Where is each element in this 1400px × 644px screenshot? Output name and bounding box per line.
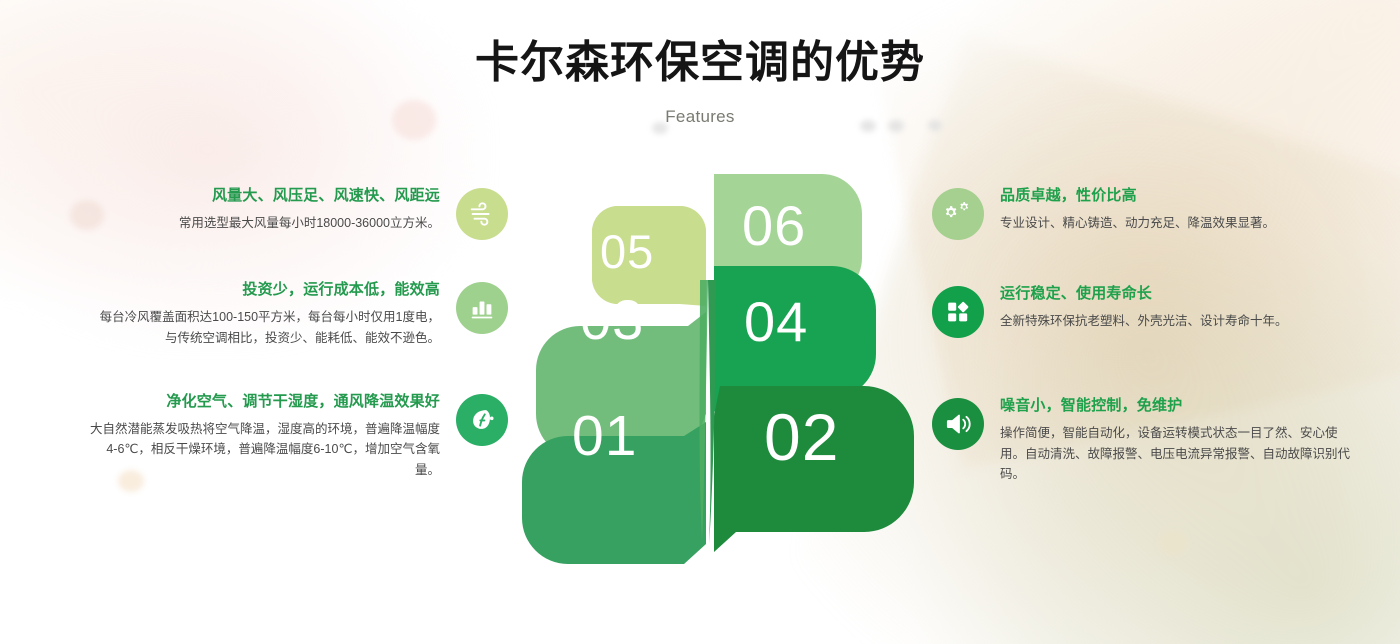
page-subtitle: Features [0,107,1400,127]
bar-chart-icon [467,293,497,323]
leaf-cluster: 05 06 03 04 01 [520,160,920,560]
feature-item-06[interactable]: 品质卓越，性价比高 专业设计、精心铸造、动力充足、降温效果显著。 [932,186,1352,240]
feature-text-03: 投资少，运行成本低，能效高 每台冷风覆盖面积达100-150平方米，每台每小时仅… [88,280,440,348]
gears-icon-badge [932,188,984,240]
feature-text-04: 运行稳定、使用寿命长 全新特殊环保抗老塑料、外壳光洁、设计寿命十年。 [1000,284,1352,332]
feature-description: 全新特殊环保抗老塑料、外壳光洁、设计寿命十年。 [1000,311,1352,331]
feature-description: 常用选型最大风量每小时18000-36000立方米。 [88,213,440,233]
feature-description: 专业设计、精心铸造、动力充足、降温效果显著。 [1000,213,1352,233]
infographic-page: 卡尔森环保空调的优势 Features 风量大、风压足、风速快、风距远 常用选型… [0,0,1400,644]
gears-icon [943,199,973,229]
feature-title: 投资少，运行成本低，能效高 [88,280,440,300]
feature-text-01: 净化空气、调节干湿度，通风降温效果好 大自然潜能蒸发吸热将空气降温，湿度高的环境… [88,392,440,480]
feature-list-right: 品质卓越，性价比高 专业设计、精心铸造、动力充足、降温效果显著。 运行稳定、使用… [932,186,1352,484]
bar-chart-icon-badge [456,282,508,334]
feature-description: 操作简便，智能自动化，设备运转模式状态一目了然、安心使用。自动清洗、故障报警、电… [1000,423,1352,484]
feature-item-01[interactable]: 净化空气、调节干湿度，通风降温效果好 大自然潜能蒸发吸热将空气降温，湿度高的环境… [88,392,508,480]
feature-item-05[interactable]: 风量大、风压足、风速快、风距远 常用选型最大风量每小时18000-36000立方… [88,186,508,240]
feature-title: 风量大、风压足、风速快、风距远 [88,186,440,206]
wind-icon-badge [456,188,508,240]
feature-description: 大自然潜能蒸发吸热将空气降温，湿度高的环境，普遍降温幅度4-6℃，相反干燥环境，… [88,419,440,480]
blocks-icon-badge [932,286,984,338]
feature-title: 品质卓越，性价比高 [1000,186,1352,206]
feature-description: 每台冷风覆盖面积达100-150平方米，每台每小时仅用1度电，与传统空调相比，投… [88,307,440,348]
eco-leaf-icon-badge [456,394,508,446]
blocks-icon [943,297,973,327]
feature-title: 噪音小，智能控制，免维护 [1000,396,1352,416]
speaker-icon [943,409,973,439]
eco-leaf-icon [467,405,497,435]
feature-text-02: 噪音小，智能控制，免维护 操作简便，智能自动化，设备运转模式状态一目了然、安心使… [1000,396,1352,484]
wind-icon [467,199,497,229]
feature-text-05: 风量大、风压足、风速快、风距远 常用选型最大风量每小时18000-36000立方… [88,186,440,234]
feature-title: 净化空气、调节干湿度，通风降温效果好 [88,392,440,412]
plant-stem [520,160,920,560]
background-speck [1158,530,1188,556]
page-title: 卡尔森环保空调的优势 [0,38,1400,89]
feature-title: 运行稳定、使用寿命长 [1000,284,1352,304]
speaker-icon-badge [932,398,984,450]
feature-item-03[interactable]: 投资少，运行成本低，能效高 每台冷风覆盖面积达100-150平方米，每台每小时仅… [88,280,508,348]
page-header: 卡尔森环保空调的优势 Features [0,0,1400,127]
feature-item-02[interactable]: 噪音小，智能控制，免维护 操作简便，智能自动化，设备运转模式状态一目了然、安心使… [932,396,1352,484]
feature-text-06: 品质卓越，性价比高 专业设计、精心铸造、动力充足、降温效果显著。 [1000,186,1352,234]
feature-list-left: 风量大、风压足、风速快、风距远 常用选型最大风量每小时18000-36000立方… [88,186,508,480]
feature-item-04[interactable]: 运行稳定、使用寿命长 全新特殊环保抗老塑料、外壳光洁、设计寿命十年。 [932,284,1352,338]
